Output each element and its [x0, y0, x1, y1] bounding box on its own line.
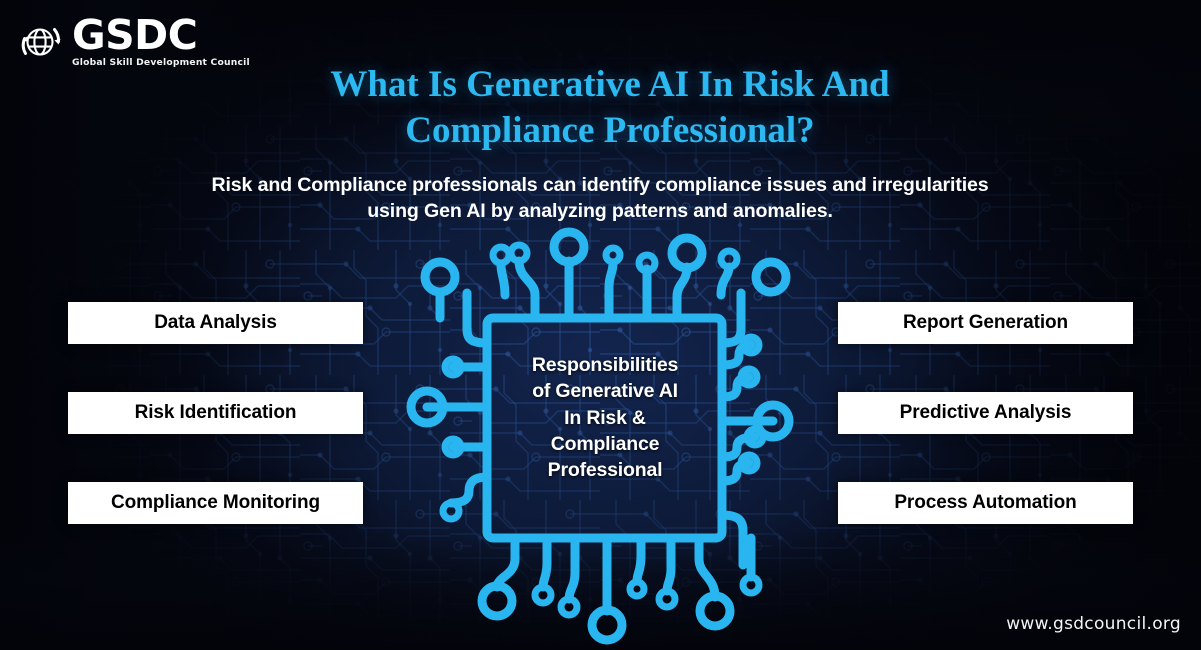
right-item-label: Predictive Analysis [900, 402, 1072, 424]
title-line-1: What Is Generative AI In Risk And [230, 62, 990, 108]
brand-tagline: Global Skill Development Council [72, 57, 250, 68]
right-item-label: Report Generation [903, 312, 1068, 334]
left-item-label: Risk Identification [135, 402, 297, 424]
page-title: What Is Generative AI In Risk And Compli… [230, 62, 990, 153]
infographic-poster: GSDC Global Skill Development Council Wh… [0, 0, 1201, 650]
right-item-label: Process Automation [894, 492, 1076, 514]
website-url[interactable]: www.gsdcouncil.org [1006, 614, 1181, 634]
brand-logo: GSDC Global Skill Development Council [16, 16, 250, 68]
subtitle-line-2: using Gen AI by analyzing patterns and a… [120, 198, 1080, 224]
right-item-predictive-analysis[interactable]: Predictive Analysis [838, 392, 1133, 434]
left-item-risk-identification[interactable]: Risk Identification [68, 392, 363, 434]
title-line-2: Compliance Professional? [230, 108, 990, 154]
chip-line-5: Professional [487, 457, 723, 483]
chip-line-1: Responsibilities [487, 352, 723, 378]
left-item-data-analysis[interactable]: Data Analysis [68, 302, 363, 344]
right-item-report-generation[interactable]: Report Generation [838, 302, 1133, 344]
chip-line-3: In Risk & [487, 405, 723, 431]
page-subtitle: Risk and Compliance professionals can id… [120, 172, 1080, 225]
brand-name: GSDC [72, 16, 250, 55]
subtitle-line-1: Risk and Compliance professionals can id… [120, 172, 1080, 198]
chip-line-2: of Generative AI [487, 378, 723, 404]
left-item-compliance-monitoring[interactable]: Compliance Monitoring [68, 482, 363, 524]
chip-title: Responsibilities of Generative AI In Ris… [487, 352, 723, 484]
right-item-process-automation[interactable]: Process Automation [838, 482, 1133, 524]
left-item-label: Data Analysis [154, 312, 277, 334]
left-item-label: Compliance Monitoring [111, 492, 320, 514]
globe-icon [16, 16, 68, 68]
chip-line-4: Compliance [487, 431, 723, 457]
